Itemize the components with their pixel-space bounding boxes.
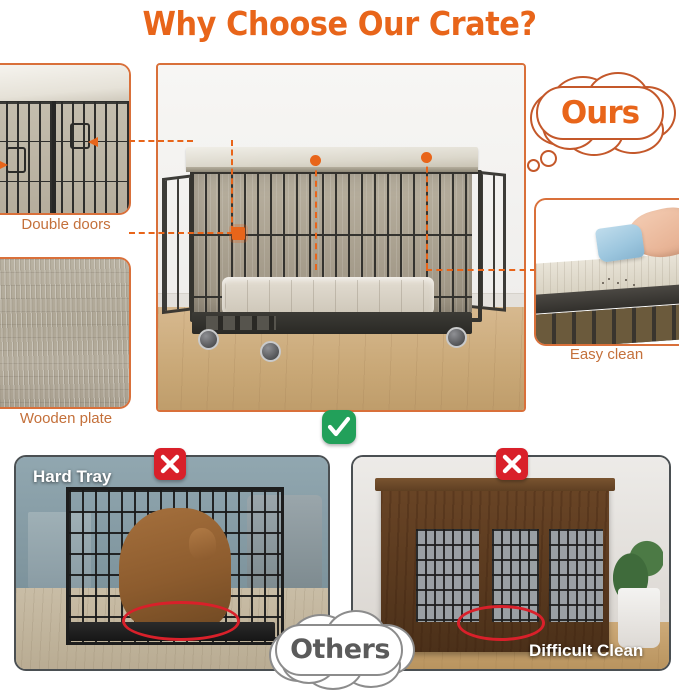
wood-grain-swatch [0, 259, 129, 407]
dog-head [189, 528, 216, 560]
callout-pin-doors [232, 227, 245, 240]
pet-cushion-bed [222, 277, 434, 315]
main-product-photo [156, 63, 526, 412]
crate-base-slats [206, 316, 276, 330]
crate-table-top [375, 478, 615, 491]
caster-wheel-front-left [198, 329, 219, 350]
callout-line-clean-h [426, 269, 536, 271]
label-difficult-clean: Difficult Clean [529, 641, 643, 661]
feature-panel-double-doors [0, 63, 131, 215]
caster-wheel-front-mid [260, 341, 281, 362]
double-doors-photo [0, 65, 129, 213]
pointer-arrow-left-icon [0, 160, 8, 170]
crate-mesh-door-left [416, 529, 479, 622]
easy-clean-photo [536, 200, 679, 344]
label-hard-tray: Hard Tray [33, 467, 111, 487]
ours-label: Ours [524, 72, 676, 154]
red-highlight-ellipse [122, 601, 240, 641]
pointer-arrow-right-icon [88, 137, 98, 147]
plant-pot [618, 588, 659, 647]
caption-wooden-plate: Wooden plate [0, 410, 132, 427]
feature-panel-easy-clean [534, 198, 679, 346]
crate-table-top [186, 147, 478, 169]
red-x-icon-difficult-clean [496, 448, 528, 480]
ours-thought-bubble: Ours [524, 72, 676, 154]
room-scene [158, 65, 524, 410]
red-x-icon-hard-tray [154, 448, 186, 480]
feature-panel-wooden-plate [0, 257, 131, 409]
table-top-edge [186, 167, 478, 172]
green-check-icon [322, 410, 356, 444]
house-plant [609, 533, 663, 597]
latch-right-icon [70, 123, 90, 149]
crate-mesh-door-right [549, 529, 603, 622]
latch-left-icon [6, 147, 26, 173]
others-thought-bubble: Others [265, 610, 415, 688]
caption-easy-clean: Easy clean [534, 346, 679, 363]
infographic-canvas: Why Choose Our Crate? Double doors Woode… [0, 0, 679, 675]
callout-line-doors-h2 [129, 232, 233, 234]
caster-wheel-right [446, 327, 467, 348]
callout-line-top-right [426, 157, 428, 269]
dog-crate-furniture [184, 147, 482, 352]
cleaning-cloth-icon [595, 223, 645, 263]
callout-line-top-center [315, 160, 317, 270]
page-title: Why Choose Our Crate? [27, 4, 652, 43]
bubble-tail-dot-small [527, 159, 540, 172]
door-divider [52, 101, 56, 213]
callout-line-doors-h1 [129, 140, 193, 142]
caption-double-doors: Double doors [0, 216, 132, 233]
others-label: Others [265, 610, 415, 688]
crate-wood-top [0, 65, 129, 104]
red-highlight-ellipse [457, 605, 545, 641]
callout-line-doors-v [231, 140, 233, 232]
